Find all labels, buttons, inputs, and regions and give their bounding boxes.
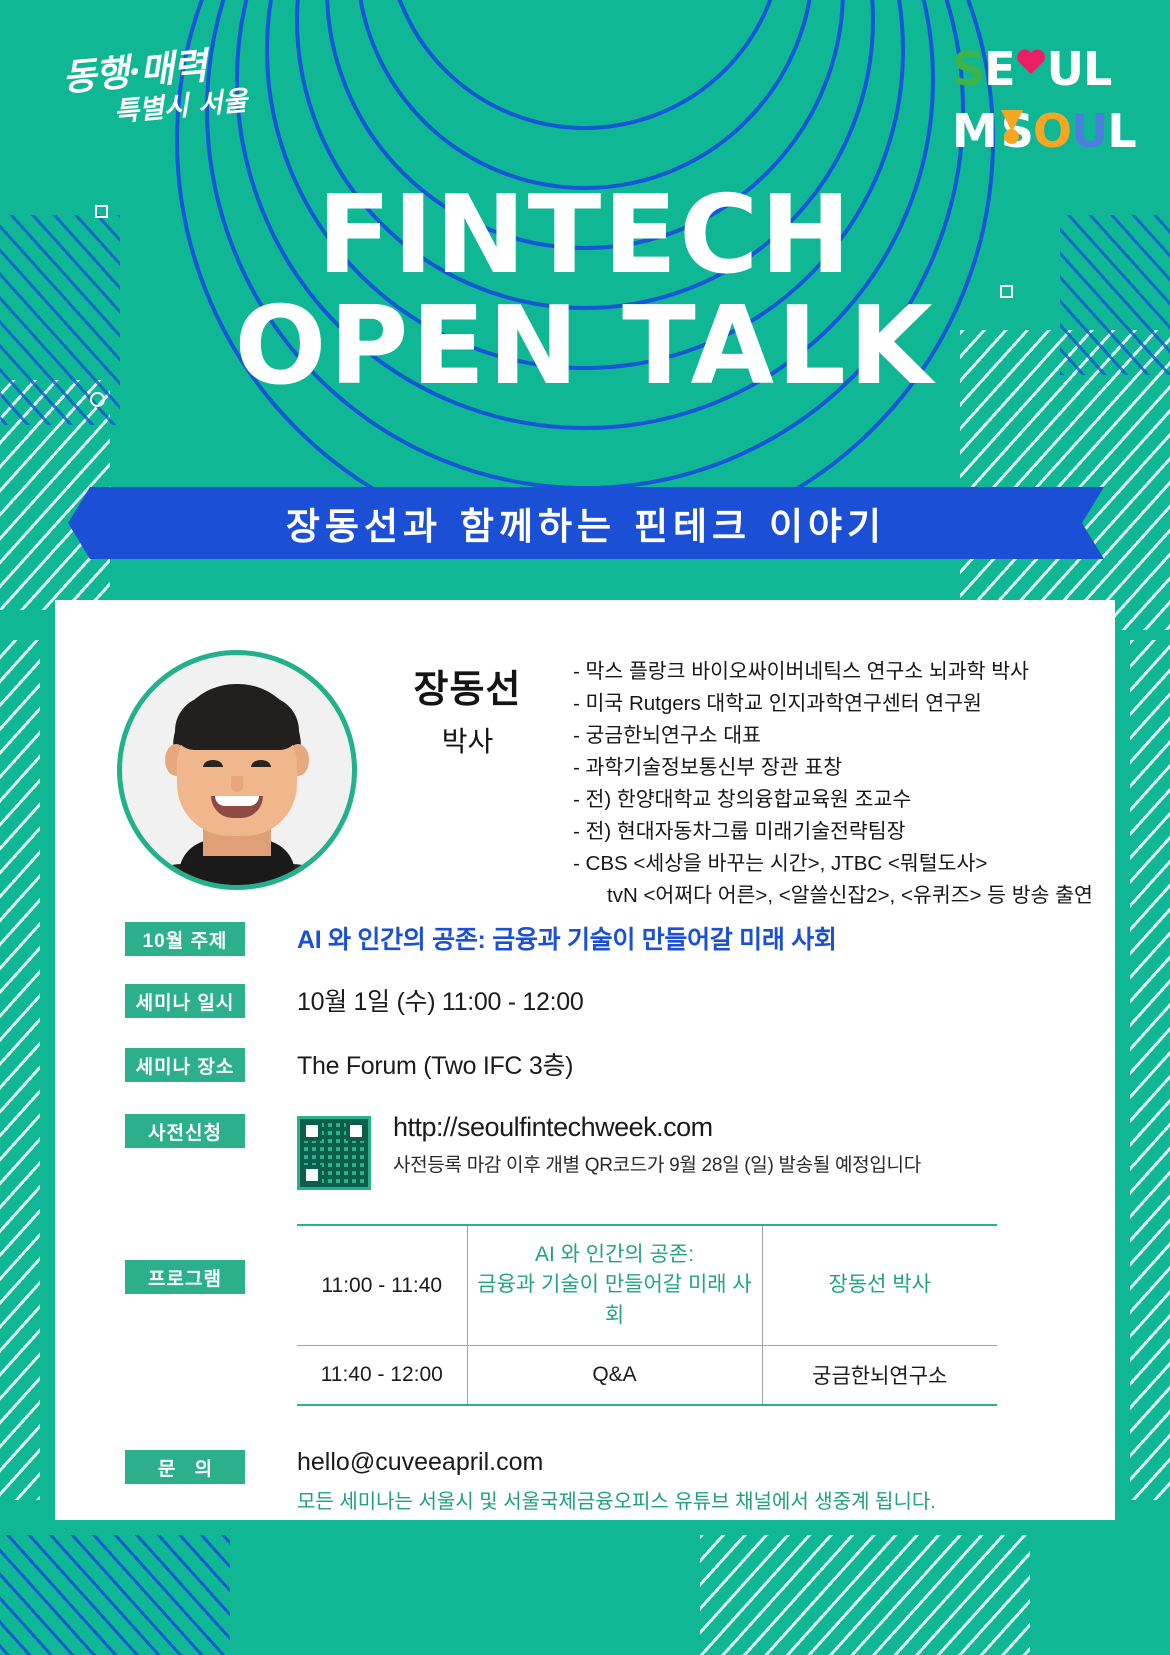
place-label: 세미나 장소 <box>125 1048 245 1082</box>
list-item: - 과학기술정보통신부 장관 표창 <box>573 752 1095 784</box>
program-title-line2: 금융과 기술이 만들어갈 미래 사회 <box>477 1273 752 1326</box>
place-value: The Forum (Two IFC 3층) <box>297 1046 573 1082</box>
info-section: 10월 주제 AI 와 인간의 공존: 금융과 기술이 만들어갈 미래 사회 세… <box>55 920 1115 1514</box>
program-table: 11:00 - 11:40 AI 와 인간의 공존: 금융과 기술이 만들어갈 … <box>297 1224 997 1406</box>
apply-url-link[interactable]: http://seoulfintechweek.com <box>393 1112 921 1143</box>
hatch-bottom-right <box>700 1535 1030 1655</box>
apply-label: 사전신청 <box>125 1114 245 1148</box>
ribbon-text: 장동선과 함께하는 핀테크 이야기 <box>286 496 886 550</box>
poster-headline: FINTECH OPEN TALK <box>0 182 1170 403</box>
speaker-name-block: 장동선 박사 <box>385 658 550 760</box>
list-item: - 궁금한뇌연구소 대표 <box>573 720 1095 752</box>
speaker-bio-list: - 막스 플랑크 바이오싸이버네틱스 연구소 뇌과학 박사 - 미국 Rutge… <box>573 656 1095 912</box>
program-title: AI 와 인간의 공존: 금융과 기술이 만들어갈 미래 사회 <box>467 1225 762 1346</box>
heart-icon <box>1016 48 1046 78</box>
contact-row: 문 의 hello@cuveeapril.com 모든 세미나는 서울시 및 서… <box>55 1448 1115 1514</box>
speaker-portrait <box>117 650 357 890</box>
qr-code-icon[interactable] <box>297 1116 371 1190</box>
headline-line1: FINTECH <box>0 182 1170 290</box>
content-card: 장동선 박사 - 막스 플랑크 바이오싸이버네틱스 연구소 뇌과학 박사 - 미… <box>55 600 1115 1520</box>
program-title: Q&A <box>467 1346 762 1406</box>
list-item: tvN <어쩌다 어른>, <알쓸신잡2>, <유퀴즈> 등 방송 출연 <box>573 880 1095 912</box>
apply-note: 사전등록 마감 이후 개별 QR코드가 9월 28일 (일) 발송될 예정입니다 <box>393 1150 921 1177</box>
list-item: - 전) 현대자동차그룹 미래기술전략팀장 <box>573 816 1095 848</box>
list-item: - 막스 플랑크 바이오싸이버네틱스 연구소 뇌과학 박사 <box>573 656 1095 688</box>
program-time: 11:40 - 12:00 <box>297 1346 467 1406</box>
program-title-line1: AI 와 인간의 공존: <box>535 1243 694 1266</box>
topic-label: 10월 주제 <box>125 922 245 956</box>
msoul-line1: SEUL <box>952 48 1112 90</box>
seoul-city-logo: 동행·매력 특별시 서울 <box>58 50 288 145</box>
contact-email[interactable]: hello@cuveeapril.com <box>297 1448 936 1477</box>
date-row: 세미나 일시 10월 1일 (수) 11:00 - 12:00 <box>55 982 1115 1018</box>
program-time: 11:00 - 11:40 <box>297 1225 467 1346</box>
msoul-line2: MSOUL <box>952 110 1112 152</box>
topic-row: 10월 주제 AI 와 인간의 공존: 금융과 기술이 만들어갈 미래 사회 <box>55 920 1115 956</box>
apply-row: 사전신청 http://seoulfintechweek.com 사전등록 마감… <box>55 1112 1115 1190</box>
table-row: 11:00 - 11:40 AI 와 인간의 공존: 금융과 기술이 만들어갈 … <box>297 1225 997 1346</box>
headline-line2: OPEN TALK <box>0 290 1170 403</box>
program-label: 프로그램 <box>125 1260 245 1294</box>
contact-note: 모든 세미나는 서울시 및 서울국제금융오피스 유튜브 채널에서 생중계 됩니다… <box>297 1485 936 1514</box>
topic-value: AI 와 인간의 공존: 금융과 기술이 만들어갈 미래 사회 <box>297 920 837 956</box>
subtitle-ribbon: 장동선과 함께하는 핀테크 이야기 <box>68 487 1104 559</box>
program-speaker: 장동선 박사 <box>762 1225 997 1346</box>
seoul-my-soul-logo: SEUL MSOUL <box>952 48 1112 173</box>
hatch-blue-bottom-left <box>0 1535 230 1655</box>
date-label: 세미나 일시 <box>125 984 245 1018</box>
speaker-name: 장동선 <box>385 658 550 713</box>
place-row: 세미나 장소 The Forum (Two IFC 3층) <box>55 1046 1115 1082</box>
table-row: 11:40 - 12:00 Q&A 궁금한뇌연구소 <box>297 1346 997 1406</box>
date-value: 10월 1일 (수) 11:00 - 12:00 <box>297 982 583 1018</box>
program-row: 프로그램 11:00 - 11:40 AI 와 인간의 공존: 금융과 기술이 … <box>55 1224 1115 1406</box>
list-item: - 전) 한양대학교 창의융합교육원 조교수 <box>573 784 1095 816</box>
list-item: - 미국 Rutgers 대학교 인지과학연구센터 연구원 <box>573 688 1095 720</box>
contact-label: 문 의 <box>125 1450 245 1484</box>
program-speaker: 궁금한뇌연구소 <box>762 1346 997 1406</box>
avatar <box>137 668 337 890</box>
hatch-right-mid <box>1130 640 1170 1500</box>
speaker-section: 장동선 박사 - 막스 플랑크 바이오싸이버네틱스 연구소 뇌과학 박사 - 미… <box>55 648 1115 913</box>
list-item: - CBS <세상을 바꾸는 시간>, JTBC <뭐털도사> <box>573 848 1095 880</box>
speaker-title: 박사 <box>385 720 550 760</box>
hatch-left-mid <box>0 640 40 1500</box>
